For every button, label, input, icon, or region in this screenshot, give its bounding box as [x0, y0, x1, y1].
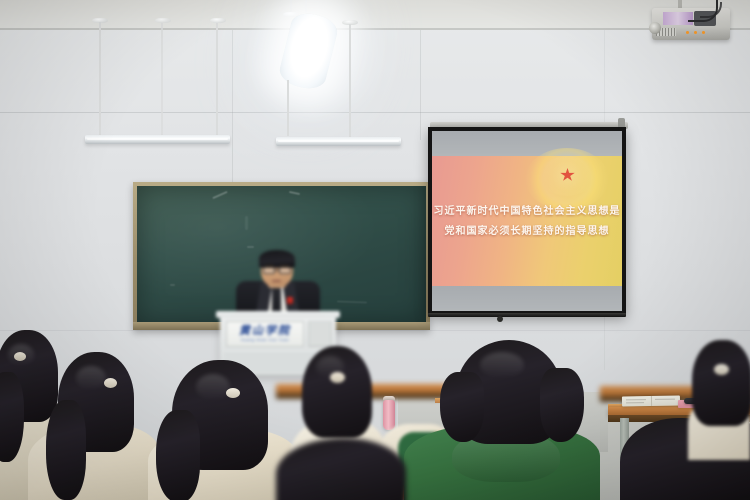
classroom-photo: 习近平新时代中国特色社会主义思想是 党和国家必须长期坚持的指导思想 黄山学院 H… — [0, 0, 750, 500]
student-front-hair — [276, 438, 406, 500]
student-front-row — [0, 0, 750, 500]
